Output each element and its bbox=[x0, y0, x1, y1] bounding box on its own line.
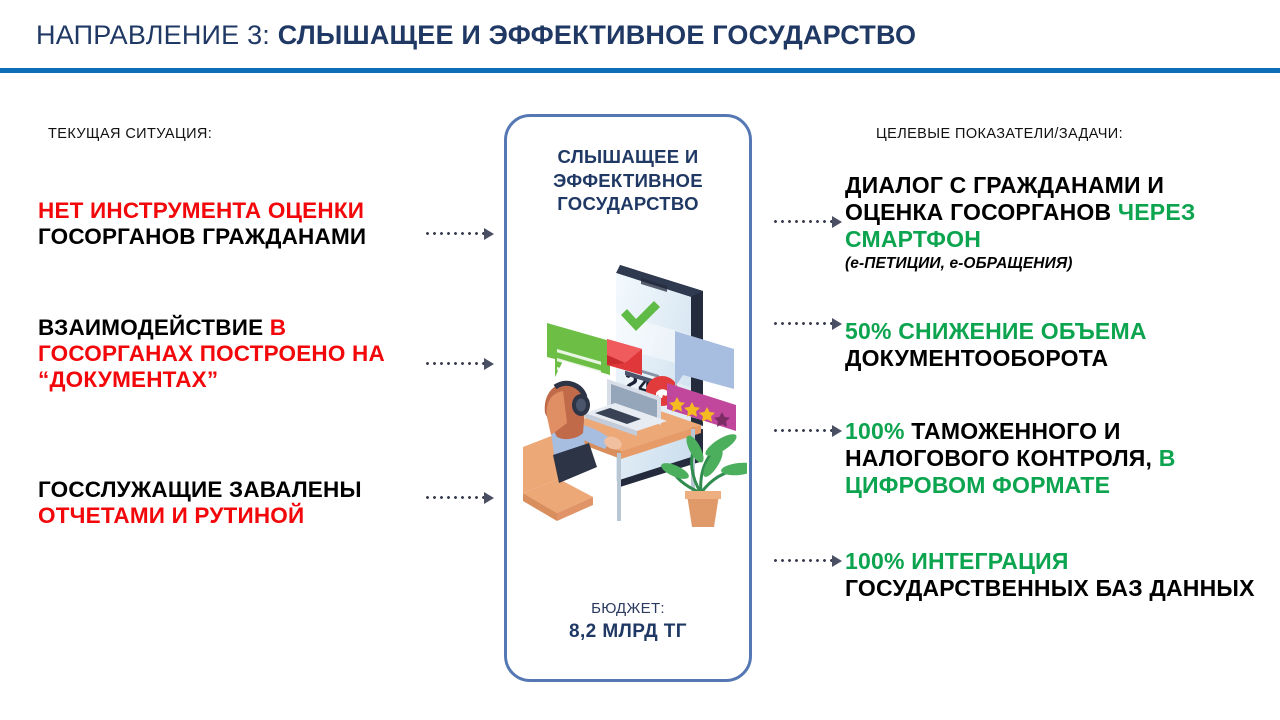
dotted-line bbox=[772, 220, 832, 223]
budget-value: 8,2 МЛРД ТГ bbox=[507, 621, 749, 643]
arrowhead-icon bbox=[484, 228, 494, 240]
left-item-1: НЕТ ИНСТРУМЕНТА ОЦЕНКИ ГОСОРГАНОВ ГРАЖДА… bbox=[38, 198, 410, 250]
left-item-2-black: ВЗАИМОДЕЙСТВИЕ bbox=[38, 315, 263, 340]
green-speech-bubble bbox=[547, 323, 610, 379]
arrowhead-icon bbox=[832, 318, 842, 330]
right-item-2-black: ДОКУМЕНТООБОРОТА bbox=[845, 345, 1108, 371]
right-item-4-black: ГОСУДАРСТВЕННЫХ БАЗ ДАННЫХ bbox=[845, 575, 1255, 601]
right-item-1-black: ДИАЛОГ С ГРАЖДАНАМИ И ОЦЕНКА ГОСОРГАНОВ bbox=[845, 172, 1164, 225]
budget-label: БЮДЖЕТ: bbox=[507, 600, 749, 617]
header-divider bbox=[0, 68, 1280, 73]
right-item-4: 100% ИНТЕГРАЦИЯ ГОСУДАРСТВЕННЫХ БАЗ ДАНН… bbox=[845, 548, 1265, 602]
slide-header: НАПРАВЛЕНИЕ 3: СЛЫШАЩЕЕ И ЭФФЕКТИВНОЕ ГО… bbox=[0, 0, 1280, 72]
left-item-2: ВЗАИМОДЕЙСТВИЕ В ГОСОРГАНАХ ПОСТРОЕНО НА… bbox=[38, 315, 410, 393]
right-item-3: 100% ТАМОЖЕННОГО И НАЛОГОВОГО КОНТРОЛЯ, … bbox=[845, 418, 1265, 499]
connector-arrow-left-1 bbox=[424, 228, 494, 240]
left-item-3-black: ГОССЛУЖАЩИЕ ЗАВАЛЕНЫ bbox=[38, 477, 362, 502]
page-title: НАПРАВЛЕНИЕ 3: СЛЫШАЩЕЕ И ЭФФЕКТИВНОЕ ГО… bbox=[36, 20, 916, 51]
dotted-line bbox=[772, 322, 832, 325]
left-item-3-red: ОТЧЕТАМИ И РУТИНОЙ bbox=[38, 503, 304, 528]
left-item-1-red: НЕТ ИНСТРУМЕНТА ОЦЕНКИ bbox=[38, 198, 364, 223]
arrowhead-icon bbox=[832, 425, 842, 437]
center-card: СЛЫШАЩЕЕ И ЭФФЕКТИВНОЕ ГОСУДАРСТВО bbox=[504, 114, 752, 682]
slide-root: НАПРАВЛЕНИЕ 3: СЛЫШАЩЕЕ И ЭФФЕКТИВНОЕ ГО… bbox=[0, 0, 1280, 720]
arrowhead-icon bbox=[832, 555, 842, 567]
arrowhead-icon bbox=[484, 492, 494, 504]
right-item-1: ДИАЛОГ С ГРАЖДАНАМИ И ОЦЕНКА ГОСОРГАНОВ … bbox=[845, 172, 1265, 273]
right-item-2-green: 50% СНИЖЕНИЕ ОБЪЕМА bbox=[845, 318, 1147, 344]
right-item-3-green: 100% bbox=[845, 418, 905, 444]
dotted-line bbox=[424, 496, 484, 499]
left-item-1-black: ГОСОРГАНОВ ГРАЖДАНАМИ bbox=[38, 224, 366, 249]
left-column-caption: ТЕКУЩАЯ СИТУАЦИЯ: bbox=[48, 126, 212, 142]
page-title-main: СЛЫШАЩЕЕ И ЭФФЕКТИВНОЕ ГОСУДАРСТВО bbox=[278, 20, 916, 50]
arrowhead-icon bbox=[832, 216, 842, 228]
dotted-line bbox=[424, 232, 484, 235]
right-item-1-note: (е-ПЕТИЦИИ, е-ОБРАЩЕНИЯ) bbox=[845, 255, 1265, 273]
connector-arrow-left-2 bbox=[424, 358, 494, 370]
dotted-line bbox=[772, 559, 832, 562]
left-item-3: ГОССЛУЖАЩИЕ ЗАВАЛЕНЫ ОТЧЕТАМИ И РУТИНОЙ bbox=[38, 477, 410, 529]
connector-arrow-right-2 bbox=[772, 318, 842, 330]
connector-arrow-right-3 bbox=[772, 425, 842, 437]
right-item-4-green: 100% ИНТЕГРАЦИЯ bbox=[845, 548, 1069, 574]
dotted-line bbox=[424, 362, 484, 365]
connector-arrow-left-3 bbox=[424, 492, 494, 504]
customer-support-illustration: 24/7 bbox=[515, 247, 747, 537]
connector-arrow-right-1 bbox=[772, 216, 842, 228]
right-column-caption: ЦЕЛЕВЫЕ ПОКАЗАТЕЛИ/ЗАДАЧИ: bbox=[876, 126, 1123, 142]
dotted-line bbox=[772, 429, 832, 432]
center-card-title: СЛЫШАЩЕЕ И ЭФФЕКТИВНОЕ ГОСУДАРСТВО bbox=[507, 145, 749, 216]
page-title-prefix: НАПРАВЛЕНИЕ 3: bbox=[36, 20, 270, 50]
arrowhead-icon bbox=[484, 358, 494, 370]
right-item-2: 50% СНИЖЕНИЕ ОБЪЕМА ДОКУМЕНТООБОРОТА bbox=[845, 318, 1265, 372]
connector-arrow-right-4 bbox=[772, 555, 842, 567]
